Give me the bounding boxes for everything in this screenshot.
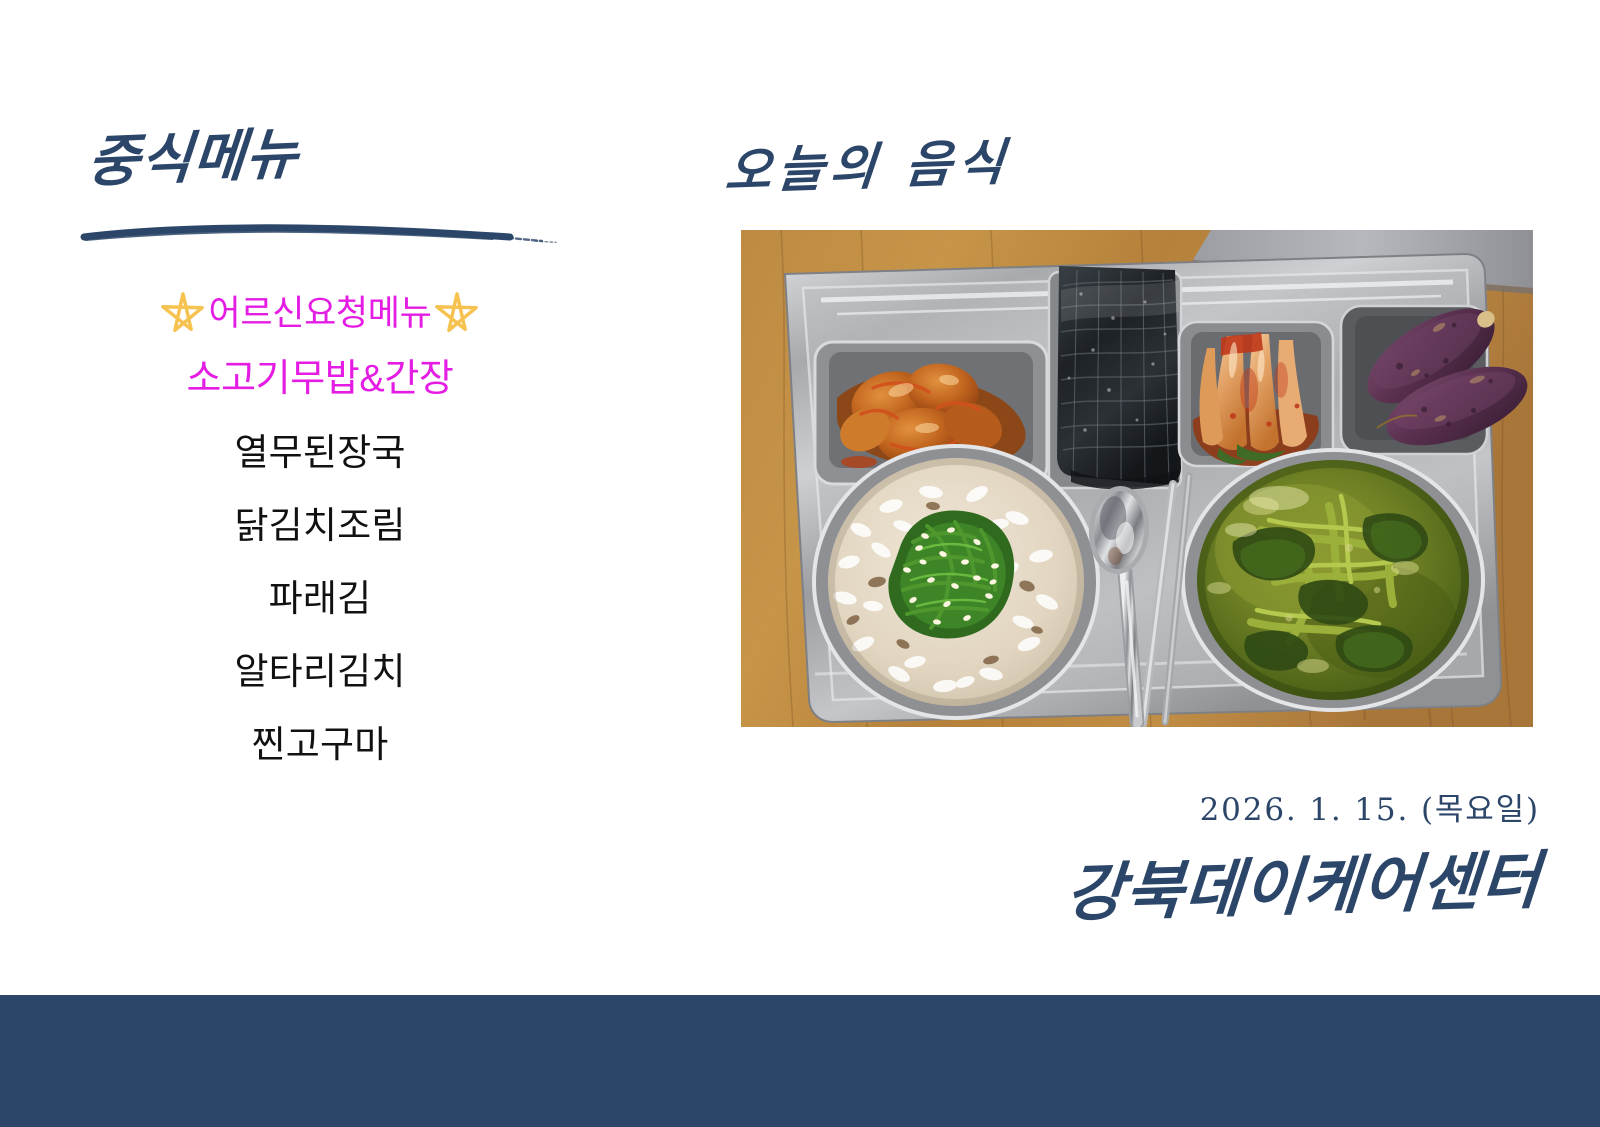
menu-list: 열무된장국 닭김치조림 파래김 알타리김치 찐고구마 — [0, 434, 640, 799]
center-signature: 강북데이케어센터 — [887, 849, 1544, 930]
today-food-title: 오늘의 음식 — [723, 137, 1012, 197]
lunch-tray-illustration — [741, 230, 1533, 727]
lunch-tray-photo — [741, 230, 1533, 727]
star-icon — [433, 290, 481, 336]
list-item: 닭김치조림 — [0, 507, 640, 544]
page-title: 중식메뉴 — [85, 126, 301, 191]
list-item: 파래김 — [0, 580, 640, 617]
menu-date: 2026. 1. 15. (목요일) — [1160, 784, 1540, 829]
brush-underline-divider — [80, 222, 560, 246]
list-item: 찐고구마 — [0, 726, 640, 763]
menu-poster: 중식메뉴 어르신요청메뉴 소고기무밥&간장 열무된장국 닭김치조림 파래김 알타… — [0, 0, 1600, 1127]
request-menu-label: 어르신요청메뉴 — [209, 296, 432, 331]
request-menu-badge: 어르신요청메뉴 — [0, 290, 640, 336]
list-item: 열무된장국 — [0, 434, 640, 471]
footer-bar — [0, 995, 1600, 1127]
request-dish-name: 소고기무밥&간장 — [0, 360, 640, 398]
list-item: 알타리김치 — [0, 653, 640, 690]
star-icon — [159, 290, 207, 336]
